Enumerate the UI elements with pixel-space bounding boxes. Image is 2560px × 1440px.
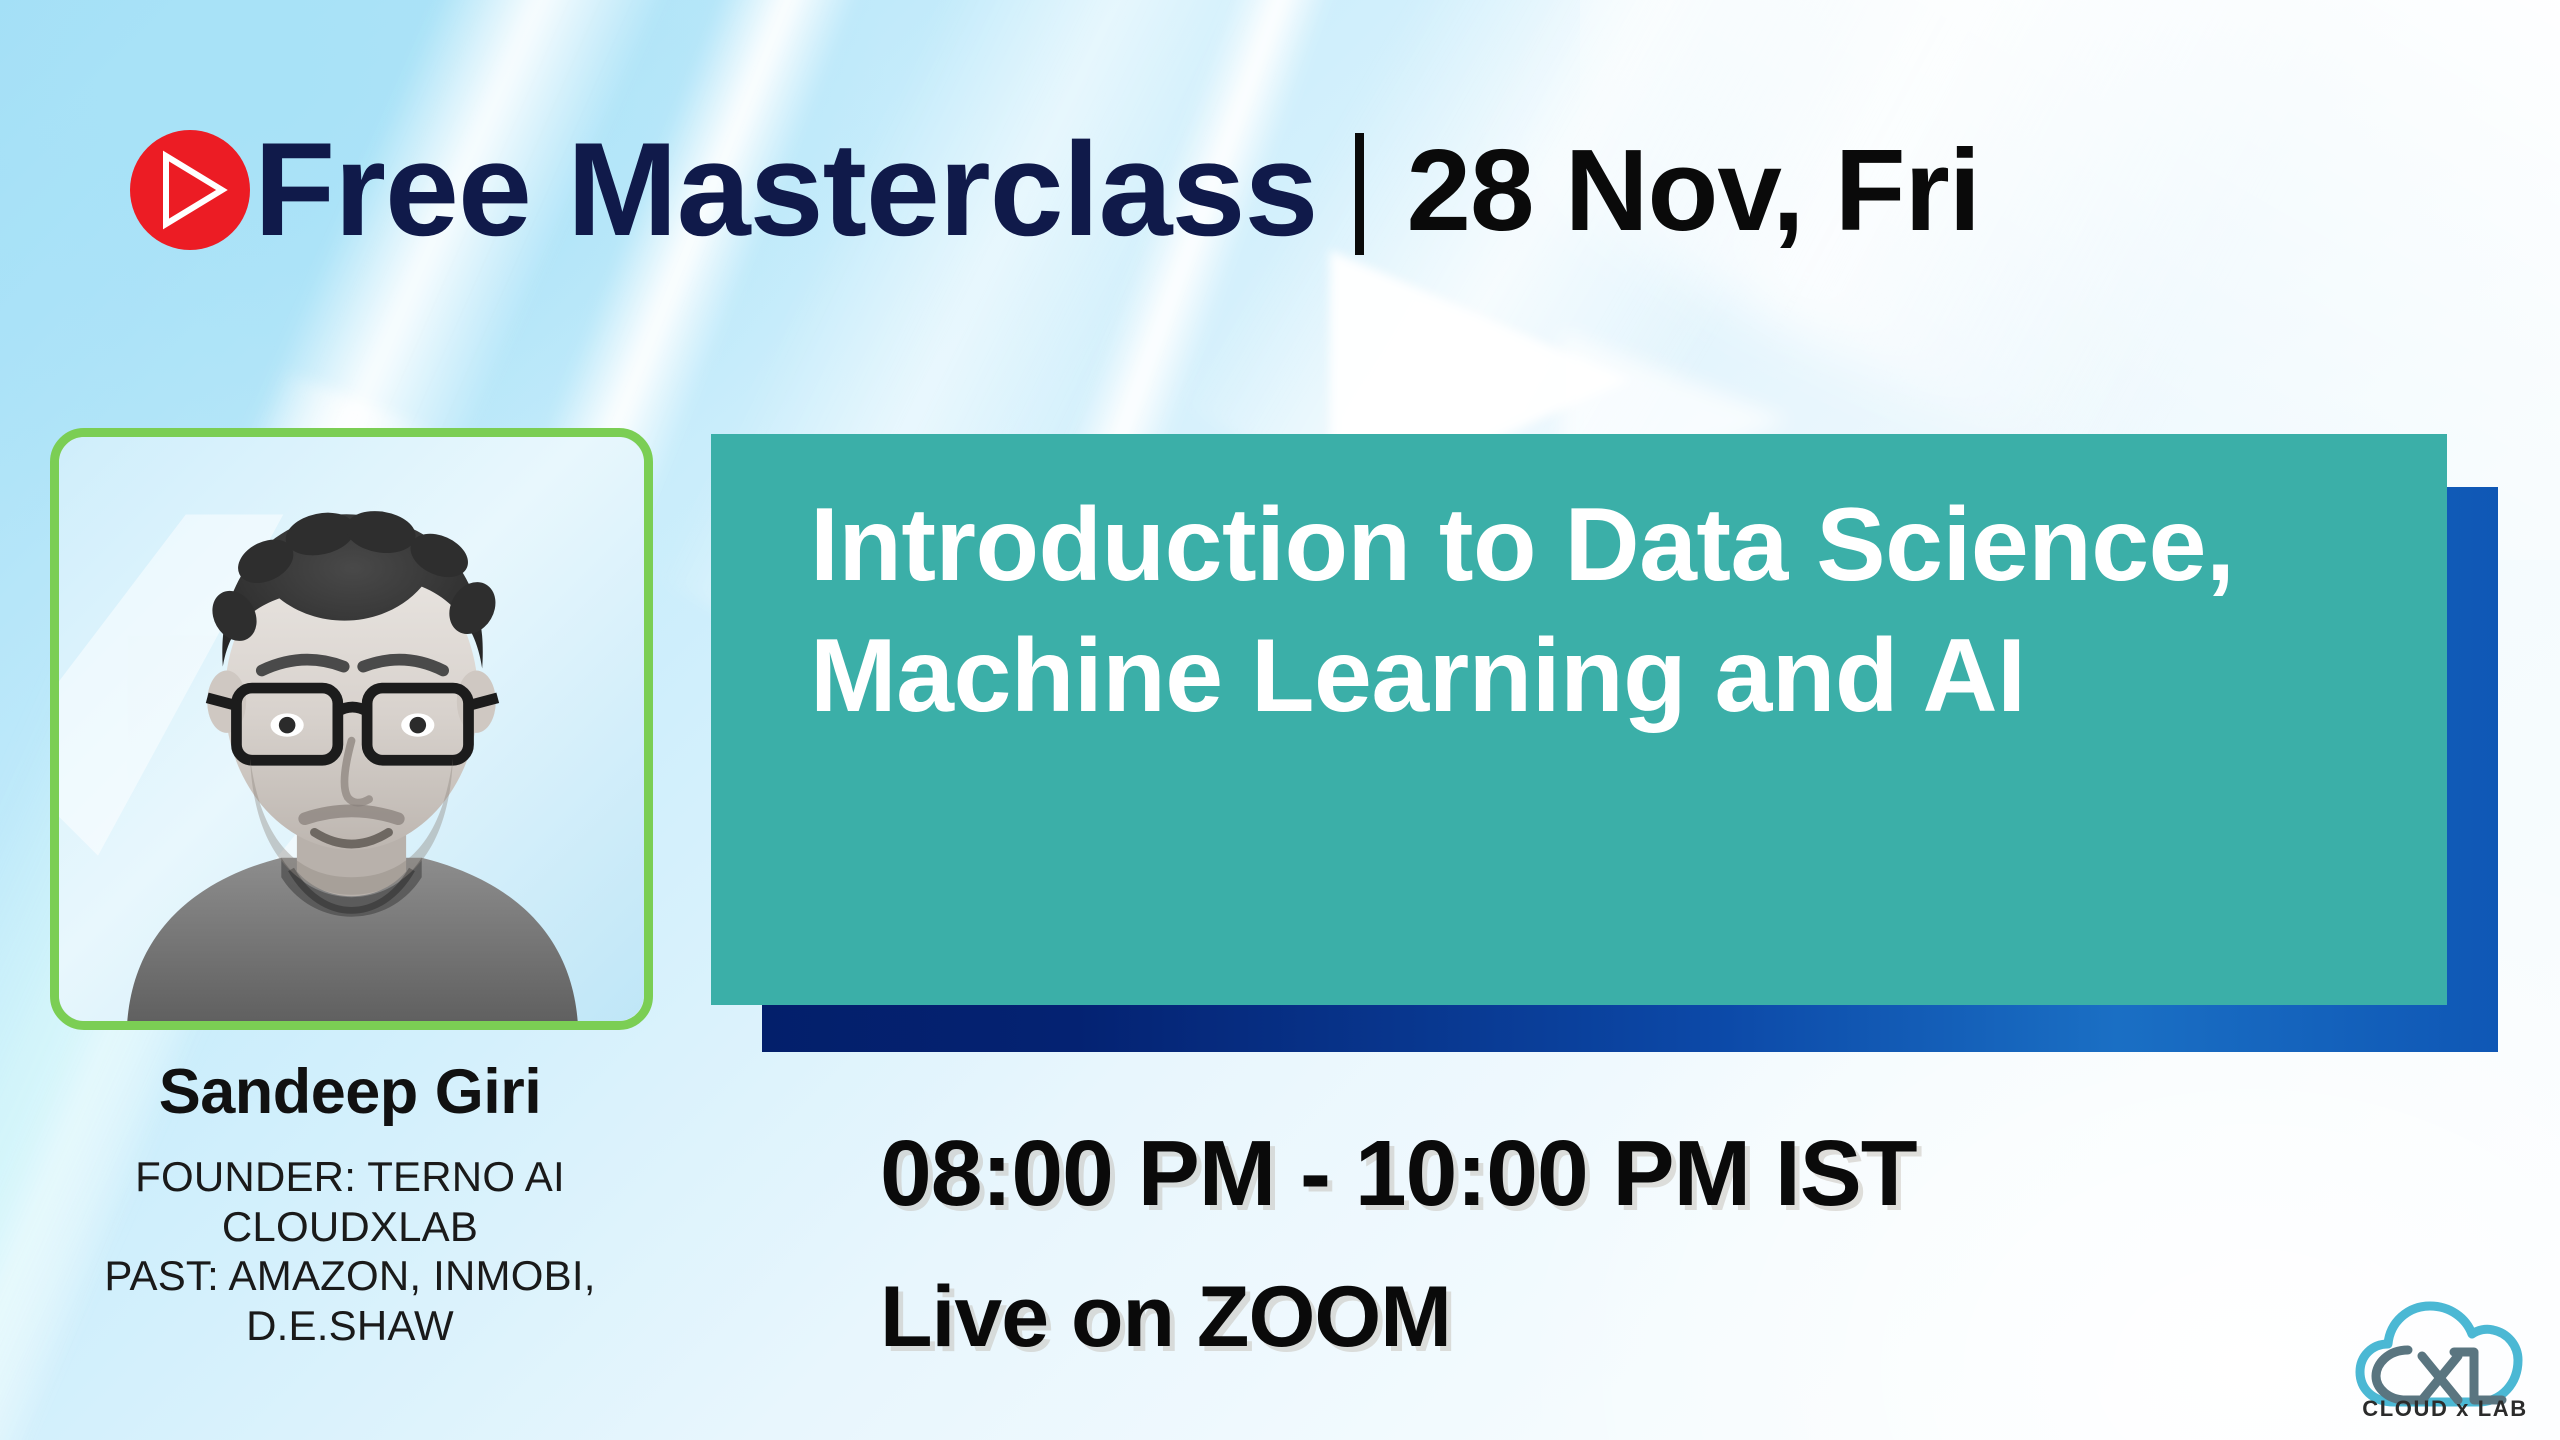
promo-banner: Free Masterclass 28 Nov, Fri — [0, 0, 2560, 1440]
credential-line: PAST: AMAZON, INMOBI, — [0, 1251, 700, 1301]
speaker-credentials: FOUNDER: TERNO AI CLOUDXLAB PAST: AMAZON… — [0, 1152, 700, 1350]
header-separator — [1355, 133, 1364, 255]
event-date: 28 Nov, Fri — [1406, 132, 1979, 248]
speaker-name: Sandeep Giri — [0, 1056, 700, 1128]
session-platform: Live on ZOOM — [880, 1268, 1451, 1367]
play-circle-icon — [130, 130, 250, 250]
speaker-photo — [59, 437, 644, 1021]
avatar — [50, 428, 653, 1030]
credential-line: D.E.SHAW — [0, 1301, 700, 1351]
session-time: 08:00 PM - 10:00 PM IST — [880, 1120, 1917, 1227]
credential-line: FOUNDER: TERNO AI — [0, 1152, 700, 1202]
banner-header: Free Masterclass 28 Nov, Fri — [0, 95, 2560, 285]
session-title: Introduction to Data Science, Machine Le… — [810, 480, 2410, 742]
credential-line: CLOUDXLAB — [0, 1202, 700, 1252]
page-title: Free Masterclass — [254, 124, 1317, 257]
cloudxlab-wordmark: CLOUD x LAB — [2350, 1396, 2540, 1422]
